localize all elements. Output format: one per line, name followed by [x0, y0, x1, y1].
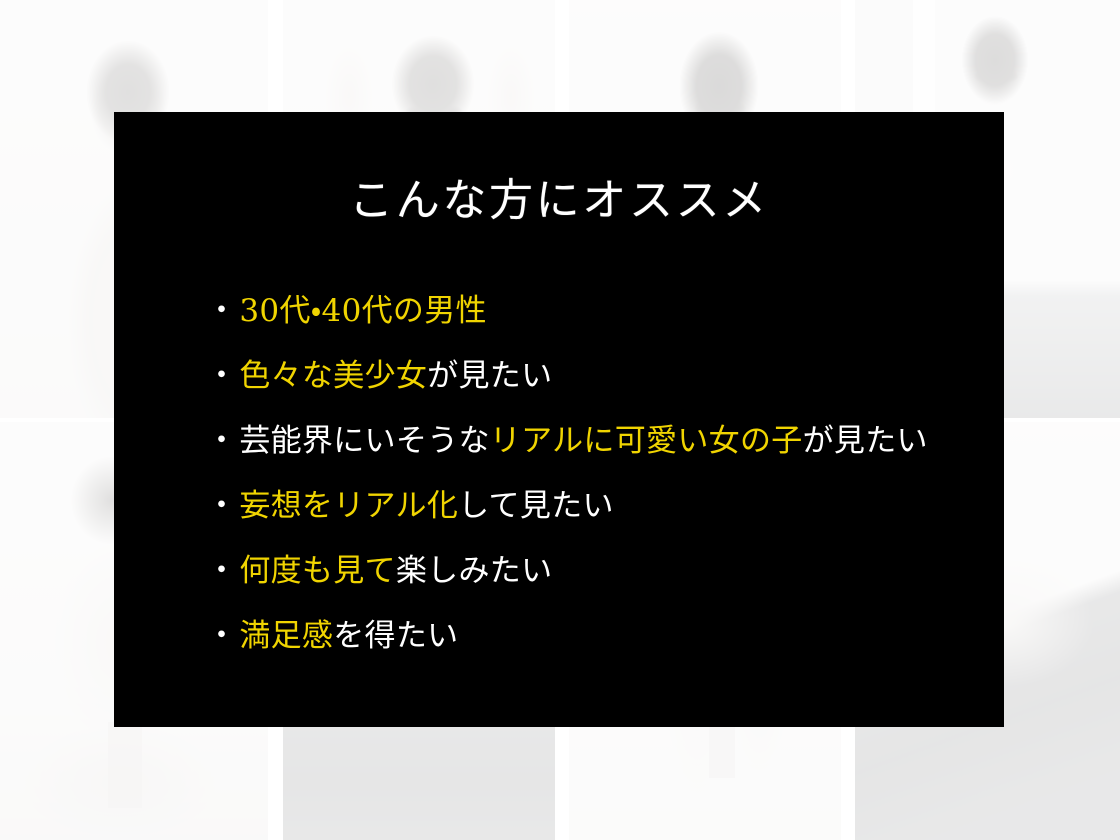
bullet-dot-icon: ・ [206, 361, 237, 392]
list-item: ・妄想をリアル化して見たい [114, 491, 1004, 522]
list-item-plain: を得たい [333, 618, 458, 654]
list-item: ・色々な美少女が見たい [114, 361, 1004, 392]
list-item-plain: 楽しみたい [396, 553, 553, 589]
bullet-dot-icon: ・ [206, 556, 237, 587]
list-item-highlight: 何度も見て [239, 553, 396, 589]
recommendation-list: ・30代・40代の男性 ・色々な美少女が見たい ・芸能界にいそうなリアルに可愛い… [114, 228, 1004, 652]
list-item-plain: して見たい [458, 488, 614, 524]
bullet-dot-icon: ・ [206, 426, 237, 457]
list-item: ・芸能界にいそうなリアルに可愛い女の子が見たい [114, 426, 1004, 457]
list-item-highlight: 30代・40代の男性 [239, 293, 487, 329]
list-item-highlight: 色々な美少女 [239, 358, 427, 394]
bullet-dot-icon: ・ [206, 621, 237, 652]
list-item-lead: 芸能界にいそうな [239, 423, 489, 459]
list-item-highlight: 満足感 [239, 618, 333, 654]
censor-bar [108, 722, 142, 808]
bullet-dot-icon: ・ [206, 491, 237, 522]
list-item-plain: が見たい [803, 423, 928, 459]
list-item: ・30代・40代の男性 [114, 296, 1004, 327]
list-item-highlight: 妄想をリアル化 [239, 488, 458, 524]
bullet-dot-icon: ・ [206, 296, 237, 327]
slide-title: こんな方にオススメ [114, 112, 1004, 228]
slide-panel: こんな方にオススメ ・30代・40代の男性 ・色々な美少女が見たい ・芸能界にい… [114, 112, 1004, 727]
list-item-highlight: リアルに可愛い女の子 [490, 423, 803, 459]
list-item: ・満足感を得たい [114, 621, 1004, 652]
list-item-plain: が見たい [427, 358, 552, 394]
list-item: ・何度も見て楽しみたい [114, 556, 1004, 587]
